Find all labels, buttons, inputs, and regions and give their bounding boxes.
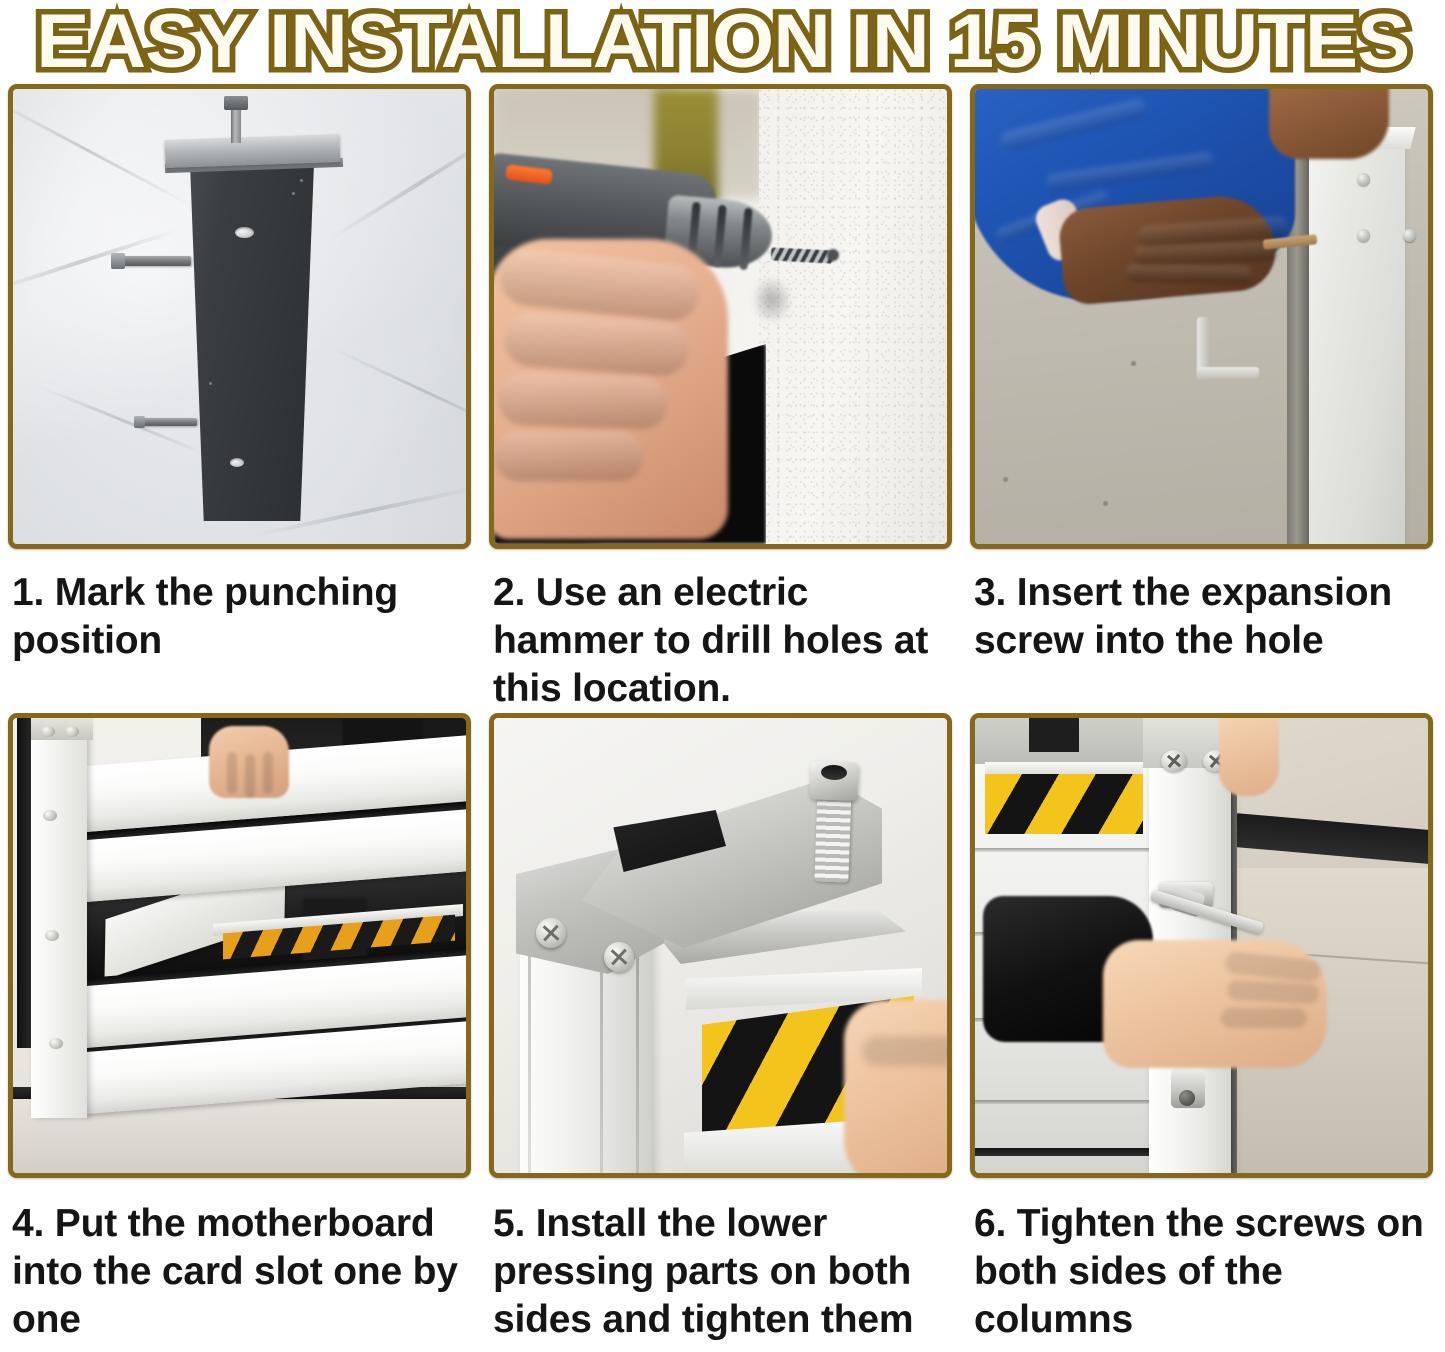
white-column [1305, 135, 1405, 544]
step-6-photo [970, 713, 1433, 1178]
step-1-photo [8, 84, 471, 549]
step-6-photo-content [975, 718, 1428, 1173]
bracket-screw [536, 918, 566, 948]
drilled-hole [827, 249, 839, 261]
finger [497, 372, 669, 430]
top-bolt-nut [224, 96, 248, 110]
upper-hand [1269, 89, 1389, 159]
step-2-photo-content [494, 89, 947, 544]
finger [245, 754, 255, 798]
board-seam [975, 1100, 1157, 1104]
column-bolt [1357, 173, 1370, 186]
drill-dust [752, 277, 792, 323]
step-2-caption: 2. Use an electric hammer to drill holes… [493, 569, 945, 713]
column-screw [1161, 750, 1187, 772]
column-screw [65, 726, 79, 737]
step-1-caption: 1. Mark the punching position [12, 569, 464, 687]
step-5-caption: 5. Install the lower pressing parts on b… [493, 1200, 945, 1344]
step-card-2: 2. Use an electric hammer to drill holes… [481, 84, 962, 713]
installation-steps-grid: 1. Mark the punching position [0, 84, 1445, 1344]
steps-row-2: 4. Put the motherboard into the card slo… [0, 713, 1445, 1344]
finger [1125, 264, 1253, 284]
step-4-caption: 4. Put the motherboard into the card slo… [12, 1200, 464, 1344]
steps-row-1: 1. Mark the punching position [0, 84, 1445, 713]
step-card-3: 3. Insert the expansion screw into the h… [962, 84, 1443, 713]
mounting-hole [230, 458, 244, 467]
step-card-4: 4. Put the motherboard into the card slo… [0, 713, 481, 1344]
column-bolt [1403, 229, 1416, 242]
finger [1221, 1008, 1307, 1028]
screw-hole [1179, 1090, 1195, 1106]
hand-shadow [862, 1036, 947, 1066]
finger [263, 752, 273, 794]
step-card-1: 1. Mark the punching position [0, 84, 481, 713]
mounting-hole [235, 227, 254, 238]
finger [227, 752, 237, 794]
step-2-photo [489, 84, 952, 549]
side-bolt-head [111, 253, 125, 269]
surface-speck [300, 179, 303, 182]
side-bolt-head [134, 416, 145, 428]
column-screw [45, 930, 59, 941]
white-column [31, 718, 87, 1118]
metal-column-post [181, 151, 323, 521]
step-5-photo-content [494, 718, 947, 1173]
column-screw [43, 810, 57, 821]
installer-hand [844, 1000, 947, 1173]
dark-gap [1029, 718, 1079, 752]
floor-speck [1103, 501, 1108, 506]
column-screw [49, 1038, 63, 1049]
step-4-photo [8, 713, 471, 1178]
step-5-photo [489, 713, 952, 1178]
step-6-caption: 6. Tighten the screws on both sides of t… [974, 1200, 1426, 1344]
floor-speck [1131, 361, 1136, 366]
bracket-screw [604, 942, 634, 972]
upper-hand [1219, 718, 1279, 796]
step-card-6: 6. Tighten the screws on both sides of t… [962, 713, 1443, 1344]
step-card-5: 5. Install the lower pressing parts on b… [481, 713, 962, 1344]
step-1-photo-content [13, 89, 466, 544]
step-3-photo-content [975, 89, 1428, 544]
surface-speck [292, 192, 295, 195]
hex-key-short-arm [1197, 367, 1259, 379]
board-seam [975, 848, 1157, 852]
header-banner: EASY INSTALLATION IN 15 MINUTES [0, 0, 1445, 84]
floor-speck [1003, 477, 1008, 482]
step-3-caption: 3. Insert the expansion screw into the h… [974, 569, 1426, 687]
column-screw [41, 726, 55, 737]
hazard-stripe-tape [985, 774, 1143, 834]
page-title: EASY INSTALLATION IN 15 MINUTES [36, 4, 1409, 80]
surface-speck [209, 382, 212, 385]
step-4-photo-content [13, 718, 466, 1173]
column-bolt [1357, 229, 1370, 242]
step-3-photo [970, 84, 1433, 549]
finger [494, 431, 644, 481]
board-seam [975, 1148, 1157, 1156]
